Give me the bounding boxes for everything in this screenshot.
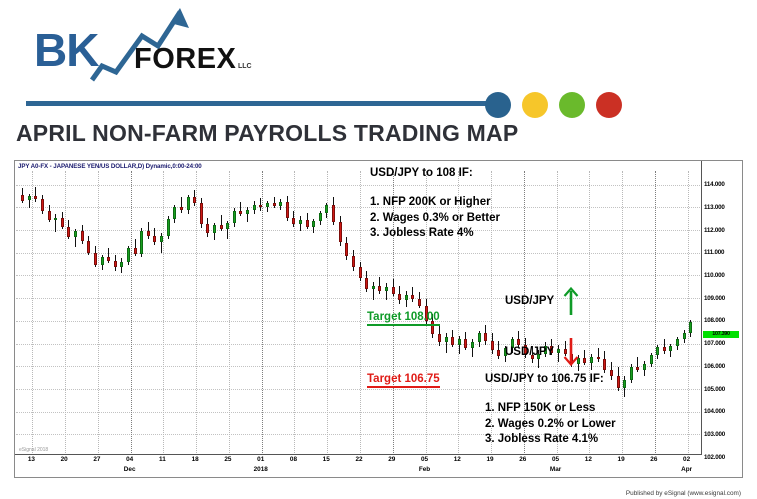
- candle-body: [180, 207, 183, 209]
- candle-body: [392, 287, 395, 294]
- candle-body: [372, 286, 375, 289]
- grid-line-v: [65, 171, 66, 457]
- x-axis-label: 26: [519, 456, 526, 463]
- candle-body: [28, 196, 31, 201]
- candle-body: [134, 248, 137, 254]
- candle-body: [306, 220, 309, 227]
- x-axis-label: 25: [224, 456, 231, 463]
- y-axis-label: 106.000: [704, 363, 725, 370]
- logo-text-forex: FOREX: [134, 43, 237, 75]
- y-axis-label: 105.000: [704, 386, 725, 393]
- candle-body: [54, 218, 57, 220]
- candle-body: [173, 207, 176, 218]
- candle-wick: [35, 187, 36, 202]
- bearish-item-2: 2. Wages 0.2% or Lower: [485, 417, 616, 433]
- grid-line-v: [655, 171, 656, 457]
- x-axis-label: 22: [355, 456, 362, 463]
- candle-body: [689, 322, 692, 333]
- y-axis-label: 108.000: [704, 317, 725, 324]
- logo-text-bk: BK: [34, 24, 99, 76]
- dot-yellow: [522, 92, 548, 118]
- x-axis-month-label: Apr: [681, 466, 692, 473]
- candle-body: [484, 333, 487, 341]
- candle-body: [583, 358, 586, 363]
- candle-body: [471, 342, 474, 348]
- dot-green: [559, 92, 585, 118]
- candle-body: [160, 236, 163, 243]
- candle-wick: [637, 357, 638, 372]
- usdjpy-up-row: USD/JPY: [505, 286, 579, 316]
- candle-body: [650, 355, 653, 364]
- chart-x-axis: 1320270411182501081522290512192605121926…: [15, 454, 702, 477]
- candle-body: [220, 225, 223, 228]
- bullish-item-3: 3. Jobless Rate 4%: [370, 226, 500, 242]
- candle-body: [411, 295, 414, 300]
- candle-body: [233, 211, 236, 223]
- trading-map-page: BK FOREX LLC APRIL NON-FARM PAYROLLS TRA…: [0, 0, 757, 499]
- y-axis-label: 103.000: [704, 431, 725, 438]
- footer-credit: Published by eSignal (www.esignal.com): [626, 490, 741, 497]
- candle-body: [438, 334, 441, 342]
- candle-body: [193, 197, 196, 203]
- candle-body: [630, 367, 633, 379]
- bearish-heading: USD/JPY to 106.75 IF:: [485, 373, 616, 385]
- chart-title: JPY A0-FX - JAPANESE YEN/US DOLLAR,D) Dy…: [18, 163, 202, 170]
- bearish-item-1: 1. NFP 150K or Less: [485, 401, 616, 417]
- arrow-down-icon: [563, 337, 579, 367]
- target-low-label: Target 106.75: [367, 373, 440, 388]
- y-axis-label: 107.000: [704, 340, 725, 347]
- x-axis-month-label: 2018: [254, 466, 268, 473]
- candle-body: [643, 364, 646, 370]
- x-axis-label: 12: [585, 456, 592, 463]
- candle-body: [87, 241, 90, 252]
- bearish-item-3: 3. Jobless Rate 4.1%: [485, 432, 616, 448]
- candle-body: [405, 295, 408, 301]
- x-axis-label: 29: [388, 456, 395, 463]
- grid-line-v: [360, 171, 361, 457]
- candle-body: [617, 376, 620, 387]
- last-price-badge: 107.390: [703, 331, 739, 338]
- x-axis-label: 13: [28, 456, 35, 463]
- candle-body: [445, 337, 448, 343]
- candle-body: [213, 225, 216, 233]
- candle-body: [34, 196, 37, 199]
- candle-body: [200, 203, 203, 225]
- usdjpy-down-label: USD/JPY: [505, 346, 554, 358]
- y-axis-label: 111.000: [704, 249, 724, 256]
- x-axis-label: 20: [61, 456, 68, 463]
- grid-line-v: [622, 171, 623, 457]
- candle-body: [81, 231, 84, 241]
- candle-body: [239, 211, 242, 214]
- y-axis-label: 113.000: [704, 204, 725, 211]
- x-axis-label: 19: [618, 456, 625, 463]
- x-axis-label: 01: [257, 456, 264, 463]
- x-axis-label: 18: [192, 456, 199, 463]
- x-axis-label: 15: [323, 456, 330, 463]
- x-axis-label: 19: [486, 456, 493, 463]
- candle-body: [299, 220, 302, 225]
- grid-line-v: [229, 171, 230, 457]
- arrow-up-icon: [563, 286, 579, 316]
- candle-body: [319, 213, 322, 221]
- bullish-scenario: USD/JPY to 108 IF: 1. NFP 200K or Higher…: [370, 167, 500, 242]
- candle-body: [491, 341, 494, 350]
- candle-body: [656, 347, 659, 355]
- candle-body: [266, 203, 269, 208]
- candle-body: [451, 337, 454, 345]
- y-axis-label: 104.000: [704, 408, 725, 415]
- candle-body: [67, 227, 70, 237]
- bullish-heading: USD/JPY to 108 IF:: [370, 167, 500, 179]
- logo-text-llc: LLC: [238, 63, 252, 70]
- x-axis-label: 05: [552, 456, 559, 463]
- candle-body: [61, 218, 64, 227]
- candle-body: [147, 231, 150, 236]
- candle-body: [259, 205, 262, 207]
- candle-body: [497, 350, 500, 356]
- candle-body: [663, 347, 666, 352]
- dot-blue: [485, 92, 511, 118]
- candle-body: [226, 223, 229, 229]
- candle-body: [636, 367, 639, 369]
- x-axis-month-label: Mar: [550, 466, 561, 473]
- grid-line-v: [688, 171, 689, 457]
- candle-body: [603, 359, 606, 369]
- x-axis-label: 12: [454, 456, 461, 463]
- candle-body: [332, 205, 335, 222]
- grid-line-v: [262, 171, 263, 457]
- candle-body: [187, 197, 190, 209]
- candle-body: [21, 195, 24, 201]
- x-axis-label: 04: [126, 456, 133, 463]
- candle-body: [74, 231, 77, 237]
- candle-body: [101, 257, 104, 265]
- candle-body: [464, 339, 467, 348]
- candle-body: [352, 256, 355, 267]
- candle-body: [325, 205, 328, 213]
- y-axis-label: 114.000: [704, 181, 725, 188]
- divider-line: [26, 101, 489, 106]
- x-axis-label: 02: [683, 456, 690, 463]
- y-axis-label: 110.000: [704, 272, 725, 279]
- candle-body: [345, 243, 348, 257]
- candle-body: [312, 221, 315, 227]
- chart-watermark: eSignal 2018: [19, 447, 48, 453]
- candle-body: [292, 218, 295, 225]
- x-axis-label: 26: [650, 456, 657, 463]
- x-axis-label: 11: [159, 456, 166, 463]
- candle-body: [120, 262, 123, 268]
- candle-body: [140, 231, 143, 254]
- candle-body: [339, 222, 342, 242]
- candle-body: [365, 278, 368, 289]
- header-divider: [26, 92, 726, 118]
- candle-body: [623, 380, 626, 388]
- grid-line-v: [32, 171, 33, 457]
- candle-body: [279, 202, 282, 207]
- candle-body: [253, 205, 256, 210]
- x-axis-label: 05: [421, 456, 428, 463]
- candle-body: [114, 261, 117, 268]
- candle-body: [127, 248, 130, 262]
- candle-body: [153, 236, 156, 243]
- candle-body: [590, 357, 593, 363]
- y-axis-label: 112.000: [704, 227, 725, 234]
- candle-wick: [108, 248, 109, 263]
- candle-wick: [181, 197, 182, 213]
- candle-wick: [598, 348, 599, 362]
- candle-body: [676, 339, 679, 346]
- x-axis-label: 27: [93, 456, 100, 463]
- candle-body: [359, 267, 362, 277]
- x-axis-month-label: Feb: [419, 466, 430, 473]
- candle-body: [167, 219, 170, 236]
- candle-body: [48, 211, 51, 220]
- candle-wick: [240, 202, 241, 217]
- candle-body: [107, 257, 110, 260]
- candle-body: [398, 294, 401, 301]
- y-axis-label: 109.000: [704, 295, 725, 302]
- candle-body: [94, 253, 97, 265]
- candle-body: [273, 203, 276, 206]
- candle-body: [683, 333, 686, 339]
- target-high-label: Target 108.00: [367, 311, 440, 326]
- candle-body: [206, 224, 209, 233]
- bearish-scenario: USD/JPY to 106.75 IF: 1. NFP 150K or Les…: [485, 373, 616, 448]
- grid-line-v: [131, 171, 132, 457]
- candle-body: [246, 210, 249, 215]
- usdjpy-down-row: USD/JPY: [505, 337, 579, 367]
- candle-body: [458, 339, 461, 345]
- candle-body: [41, 199, 44, 210]
- candle-body: [286, 202, 289, 218]
- grid-line-v: [163, 171, 164, 457]
- candle-body: [478, 333, 481, 342]
- bullish-item-1: 1. NFP 200K or Higher: [370, 195, 500, 211]
- y-axis-label: 102.000: [704, 454, 725, 461]
- page-title: APRIL NON-FARM PAYROLLS TRADING MAP: [16, 120, 518, 147]
- chart-y-axis: 114.000113.000112.000111.000110.000109.0…: [701, 161, 742, 477]
- x-axis-label: 08: [290, 456, 297, 463]
- candle-body: [385, 287, 388, 292]
- x-axis-month-label: Dec: [124, 466, 136, 473]
- price-chart: JPY A0-FX - JAPANESE YEN/US DOLLAR,D) Dy…: [14, 160, 743, 478]
- grid-line-v: [196, 171, 197, 457]
- bk-forex-logo: BK FOREX LLC: [30, 6, 255, 84]
- bullish-item-2: 2. Wages 0.3% or Better: [370, 211, 500, 227]
- candle-body: [597, 357, 600, 359]
- candle-body: [418, 299, 421, 306]
- candle-body: [378, 286, 381, 292]
- grid-line-v: [294, 171, 295, 457]
- usdjpy-up-label: USD/JPY: [505, 295, 554, 307]
- dot-red: [596, 92, 622, 118]
- candle-body: [669, 346, 672, 352]
- grid-line-v: [98, 171, 99, 457]
